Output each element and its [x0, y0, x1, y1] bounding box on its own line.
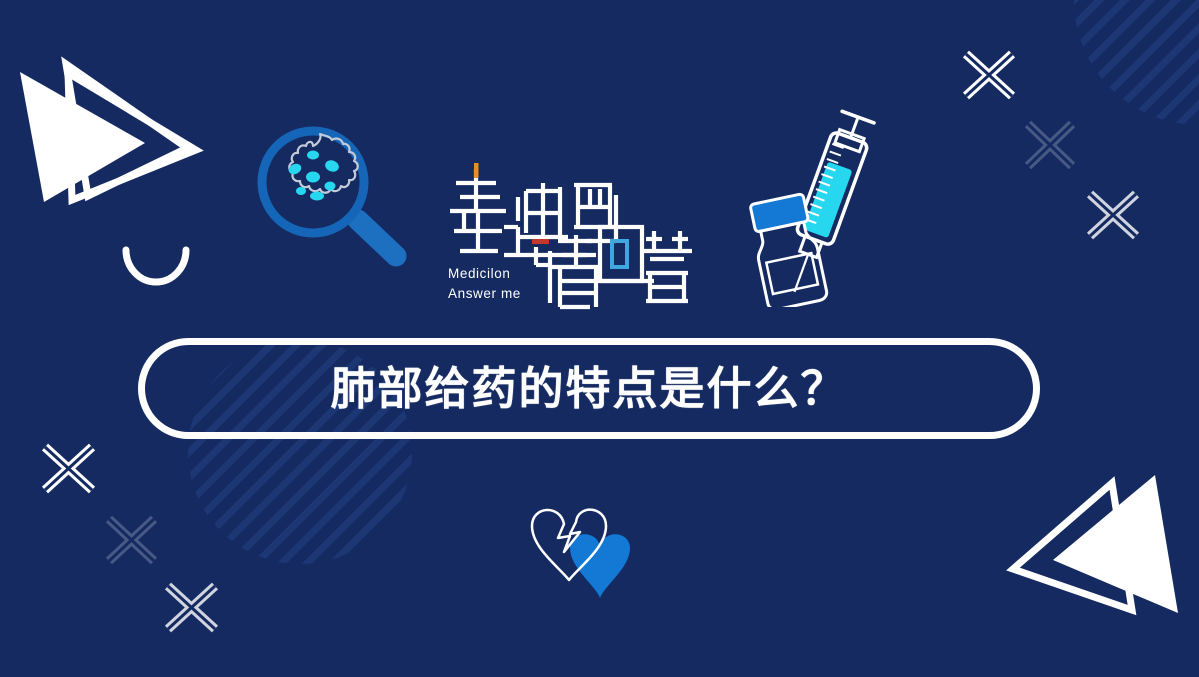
logo-accent-cyan-box — [612, 241, 627, 267]
triangle-outline-bottom-right — [1013, 483, 1132, 610]
logo-char-mei — [450, 169, 506, 251]
cross-bottom-left-medium-icon — [168, 586, 215, 629]
cross-bottom-left-faint-icon — [109, 519, 154, 561]
cross-right-faint-icon — [1028, 124, 1072, 166]
heart-pulse-icon — [518, 490, 646, 602]
logo-char-xi — [574, 185, 616, 241]
stripe-circle-top-right — [1074, 0, 1199, 125]
magnifier-handle — [358, 220, 396, 256]
question-title-pill: 肺部给药的特点是什么？ — [138, 338, 1040, 439]
logo-char-di — [504, 183, 586, 255]
logo-accent-red-dash — [532, 239, 549, 244]
medicilon-logo: Medicilon Answer me — [440, 155, 700, 315]
slide-canvas: Medicilon Answer me 肺部给药的特点是什么？ — [0, 0, 1199, 677]
cross-top-right-bright-icon — [966, 54, 1012, 96]
triangle-pair-top-left-icon — [66, 73, 196, 200]
cross-right-medium-icon — [1090, 194, 1136, 236]
logo-char-qing — [536, 235, 600, 307]
triangle-filled-top-left — [20, 72, 145, 202]
open-arc-icon — [126, 250, 186, 282]
triangle-filled-bottom-right — [1053, 475, 1178, 613]
logo-accent-orange-tick — [474, 163, 479, 178]
page-title: 肺部给药的特点是什么？ — [330, 366, 847, 411]
cross-bottom-left-bright-icon — [45, 447, 92, 490]
syringe-vial-icon — [744, 102, 896, 307]
vial-label — [766, 253, 818, 294]
logo-char-da — [642, 231, 692, 301]
virus-spots — [287, 151, 340, 201]
logo-latin-line-2: Answer me — [448, 286, 521, 301]
magnifier-virus-icon — [246, 124, 426, 276]
triangle-outline-top-left — [66, 64, 187, 196]
logo-latin-line-1: Medicilon — [448, 266, 510, 281]
syringe-liquid — [803, 162, 852, 239]
